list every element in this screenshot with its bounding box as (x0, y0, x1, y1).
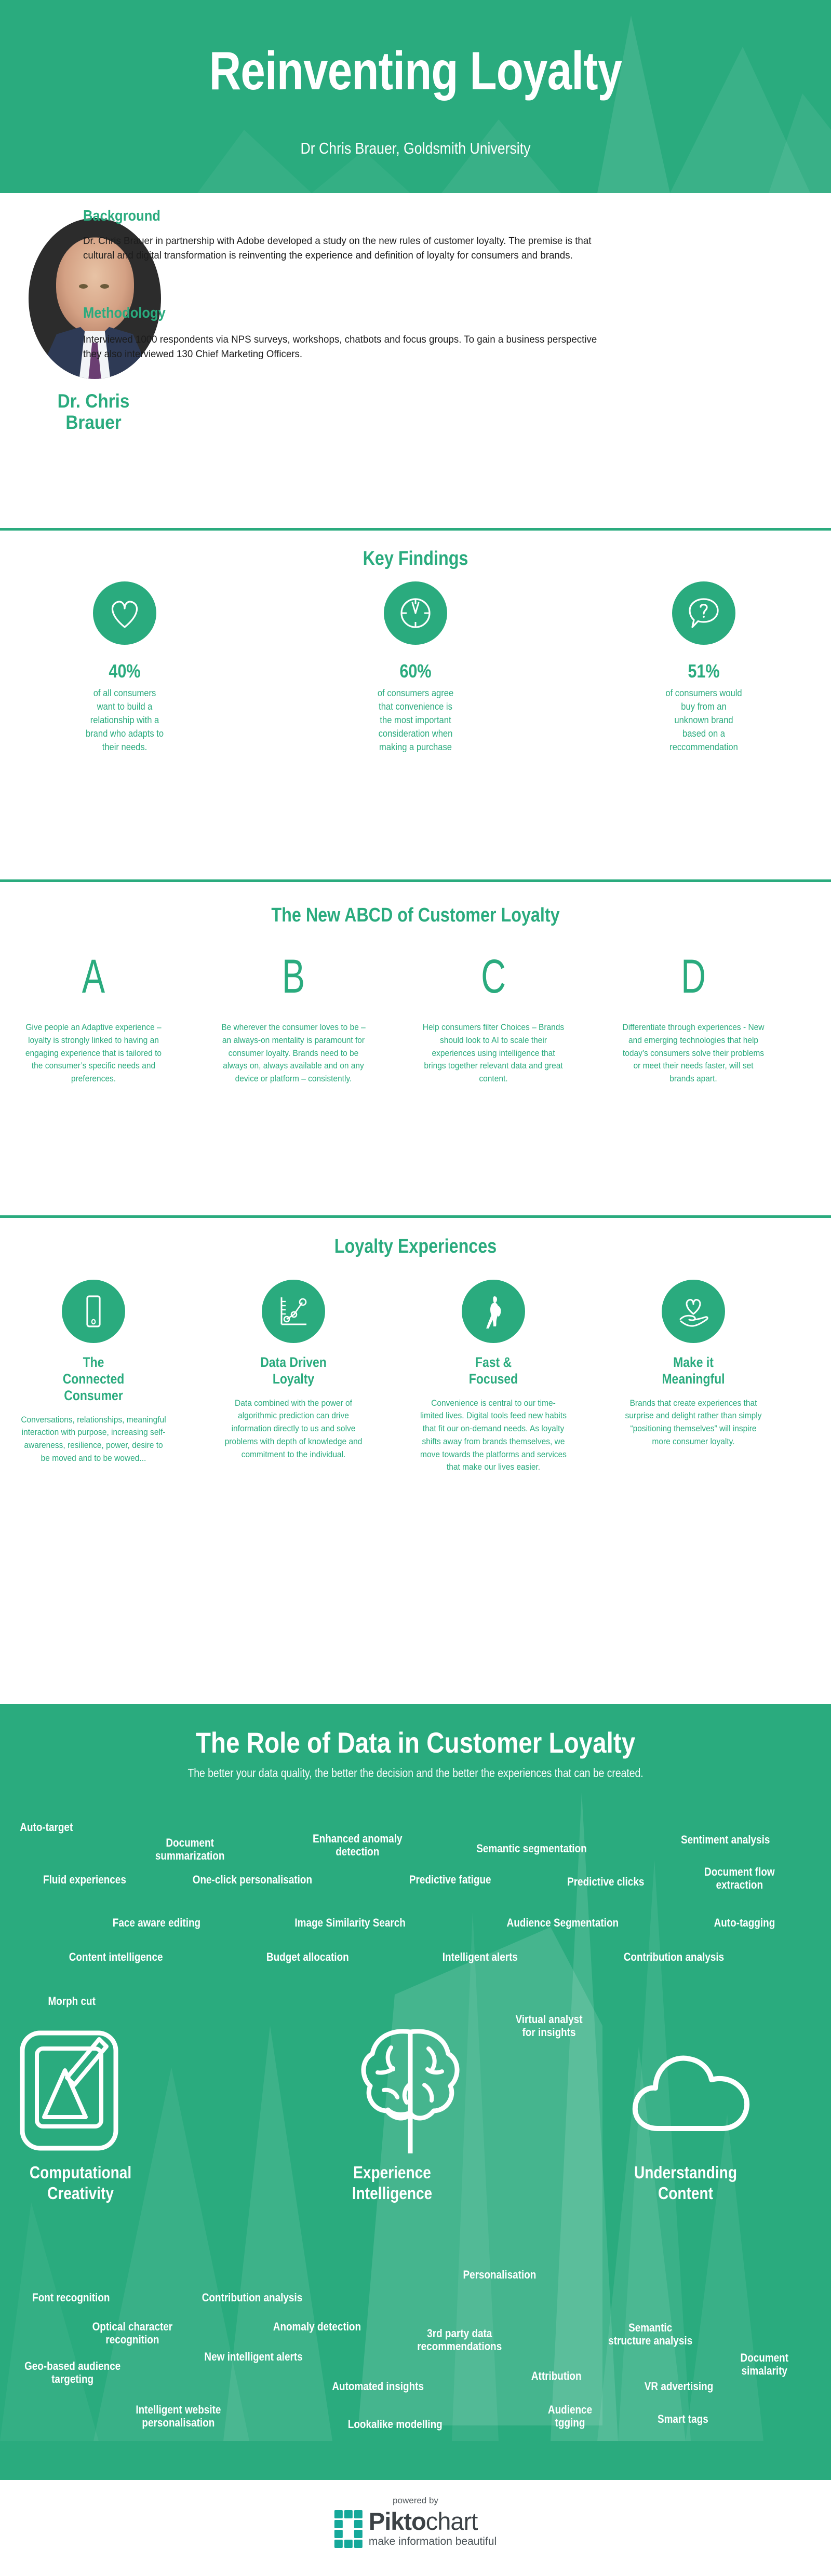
running-person-icon (462, 1280, 525, 1343)
piktochart-mark-icon (334, 2510, 363, 2548)
abcd-item: C Help consumers filter Choices – Brands… (415, 953, 571, 1086)
word-cloud-item: Virtual analyst for insights (516, 2013, 583, 2039)
word-cloud-item: Predictive fatigue (409, 1874, 491, 1887)
key-finding-description: of all consumers want to build a relatio… (46, 686, 204, 754)
word-cloud-item: Intelligent website personalisation (136, 2404, 221, 2429)
powered-by-label: powered by (0, 2496, 831, 2506)
loyalty-experience-body: Data combined with the power of algorith… (220, 1397, 367, 1461)
loyalty-experiences-title: Loyalty Experiences (62, 1236, 769, 1258)
loyalty-experience-title: Data Driven Loyalty (227, 1354, 360, 1388)
key-finding-item: 60% of consumers agree that convenience … (330, 581, 501, 754)
background-text: Dr. Chris Brauer in partnership with Ado… (83, 234, 601, 263)
creative-tablet-icon (13, 2024, 125, 2161)
word-cloud-item: Attribution (531, 2370, 582, 2383)
word-cloud-item: VR advertising (645, 2380, 713, 2393)
abcd-body: Be wherever the consumer loves to be – a… (220, 1021, 367, 1086)
hero-banner: Reinventing Loyalty Dr Chris Brauer, Gol… (0, 0, 831, 193)
loyalty-experience-item: Data Driven Loyalty Data combined with t… (216, 1280, 371, 1461)
word-cloud-item: New intelligent alerts (204, 2351, 302, 2364)
abcd-body: Help consumers filter Choices – Brands s… (420, 1021, 567, 1086)
word-cloud-item: 3rd party data recommendations (417, 2327, 502, 2353)
loyalty-experience-body: Convenience is central to our time-limit… (420, 1397, 567, 1474)
word-cloud-item: Document simalarity (741, 2352, 789, 2377)
key-finding-item: 51% of consumers would buy from an unkno… (618, 581, 789, 754)
piktochart-tagline: make information beautiful (369, 2536, 497, 2548)
page-title: Reinventing Loyalty (75, 40, 756, 102)
word-cloud-item: Content intelligence (69, 1951, 163, 1964)
loyalty-experience-item: Fast & Focused Convenience is central to… (415, 1280, 571, 1474)
word-cloud-item: Sentiment analysis (681, 1834, 770, 1847)
piktochart-name-bold: Pikto (369, 2507, 426, 2535)
word-cloud-item: Predictive clicks (567, 1876, 644, 1889)
key-finding-percent: 60% (343, 660, 489, 682)
author-name: Dr. Chris Brauer (19, 390, 168, 433)
brain-tree-icon (345, 2024, 475, 2164)
section-divider (0, 528, 831, 531)
loyalty-experience-body: Conversations, relationships, meaningful… (20, 1414, 167, 1465)
heart-in-hand-icon (662, 1280, 725, 1343)
bio-section: Dr. Chris Brauer Background Dr. Chris Br… (0, 193, 831, 528)
word-cloud-item: Font recognition (32, 2292, 110, 2304)
loyalty-experience-item: Make it Meaningful Brands that create ex… (615, 1280, 771, 1448)
word-cloud-item: Face aware editing (113, 1917, 200, 1930)
key-finding-percent: 51% (631, 660, 777, 682)
word-cloud-item: Image Similarity Search (294, 1917, 405, 1930)
methodology-text: Interviewed 1000 respondents via NPS sur… (83, 332, 601, 362)
methodology-heading: Methodology (83, 305, 166, 322)
piktochart-name-light: chart (426, 2507, 478, 2535)
section-divider (0, 879, 831, 882)
abcd-body: Give people an Adaptive experience – loy… (20, 1021, 167, 1086)
word-cloud-item: Personalisation (463, 2269, 536, 2282)
page-subtitle: Dr Chris Brauer, Goldsmith University (58, 139, 773, 158)
abcd-item: B Be wherever the consumer loves to be –… (216, 953, 371, 1086)
word-cloud-item: Optical character recognition (92, 2321, 173, 2346)
key-finding-percent: 40% (52, 660, 198, 682)
key-finding-item: 40% of all consumers want to build a rel… (39, 581, 210, 754)
word-cloud-item: Auto-target (20, 1821, 73, 1834)
word-cloud-item: Semantic structure analysis (608, 2322, 692, 2347)
data-section-subtitle: The better your data quality, the better… (66, 1766, 765, 1780)
clock-icon (384, 581, 447, 645)
data-section-title: The Role of Data in Customer Loyalty (62, 1726, 769, 1759)
abcd-item: A Give people an Adaptive experience – l… (16, 953, 171, 1086)
cloud-icon (628, 2045, 758, 2141)
section-divider (0, 1215, 831, 1218)
word-cloud-item: Lookalike modelling (348, 2418, 443, 2431)
mobile-phone-icon (62, 1280, 125, 1343)
word-cloud-item: Geo-based audience targeting (24, 2360, 120, 2385)
key-findings-title: Key Findings (62, 548, 769, 570)
big-icon-label: Experience Intelligence (324, 2162, 461, 2203)
footer: powered by Piktochart make information b… (0, 2480, 831, 2576)
word-cloud-item: Enhanced anomaly detection (313, 1833, 402, 1858)
big-icon-label: Understanding Content (613, 2162, 759, 2203)
piktochart-logo: Piktochart make information beautiful (334, 2510, 497, 2548)
loyalty-experience-title: Make it Meaningful (627, 1354, 760, 1388)
word-cloud-item: Intelligent alerts (443, 1951, 518, 1964)
word-cloud-item: Anomaly detection (273, 2321, 361, 2334)
word-cloud-item: Audience Segmentation (507, 1917, 619, 1930)
word-cloud-item: Smart tags (658, 2413, 708, 2426)
word-cloud-item: Audience tgging (548, 2404, 592, 2429)
loyalty-experience-title: Fast & Focused (427, 1354, 560, 1388)
abcd-body: Differentiate through experiences - New … (620, 1021, 767, 1086)
abcd-letter: B (237, 953, 350, 1000)
abcd-title: The New ABCD of Customer Loyalty (62, 904, 769, 927)
key-finding-description: of consumers agree that convenience is t… (337, 686, 494, 754)
abcd-letter: D (637, 953, 749, 1000)
word-cloud-item: Contribution analysis (624, 1951, 724, 1964)
loyalty-experience-title: The Connected Consumer (28, 1354, 160, 1404)
abcd-letter: A (37, 953, 150, 1000)
question-bubble-icon (672, 581, 735, 645)
word-cloud-item: Semantic segmentation (476, 1842, 586, 1855)
word-cloud-item: Budget allocation (266, 1951, 349, 1964)
background-heading: Background (83, 208, 160, 225)
word-cloud-item: One-click personalisation (193, 1874, 312, 1887)
word-cloud-item: Fluid experiences (43, 1874, 126, 1887)
infographic-page: Reinventing Loyalty Dr Chris Brauer, Gol… (0, 0, 831, 2576)
loyalty-experience-body: Brands that create experiences that surp… (620, 1397, 767, 1448)
word-cloud-item: Auto-tagging (714, 1917, 775, 1930)
word-cloud-item: Morph cut (48, 1995, 95, 2008)
word-cloud-item: Document flow extraction (704, 1866, 775, 1891)
key-finding-description: of consumers would buy from an unknown b… (625, 686, 783, 754)
abcd-item: D Differentiate through experiences - Ne… (615, 953, 771, 1086)
line-chart-icon (262, 1280, 325, 1343)
word-cloud-item: Contribution analysis (202, 2292, 302, 2304)
word-cloud-item: Document summarization (155, 1837, 225, 1862)
loyalty-experience-item: The Connected Consumer Conversations, re… (16, 1280, 171, 1465)
big-icon-label: Computational Creativity (12, 2162, 149, 2203)
abcd-letter: C (437, 953, 549, 1000)
heart-icon (93, 581, 156, 645)
word-cloud-item: Automated insights (332, 2380, 424, 2393)
